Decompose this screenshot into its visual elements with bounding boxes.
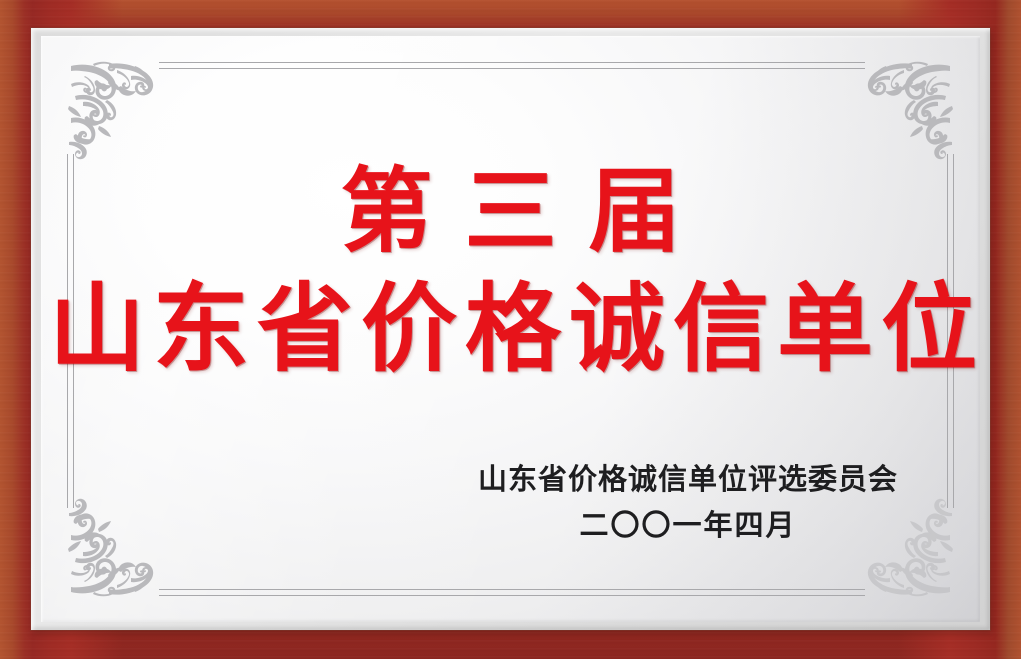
border-rule-bottom-outer xyxy=(159,595,865,596)
issue-date: 二〇〇一年四月 xyxy=(478,506,898,545)
border-rule-left-outer xyxy=(67,154,68,508)
issuing-organization: 山东省价格诚信单位评选委员会 xyxy=(478,460,898,499)
border-rule-right-outer xyxy=(953,154,954,508)
border-rule-left-inner xyxy=(73,154,74,508)
border-rule-top-outer xyxy=(159,62,865,63)
border-rule-right-inner xyxy=(947,154,948,508)
border-rule-top-inner xyxy=(159,68,865,69)
award-plaque: 第三届 山东省价格诚信单位 山东省价格诚信单位评选委员会 二〇〇一年四月 xyxy=(0,0,1021,659)
title-line-2: 山东省价格诚信单位 xyxy=(41,279,980,380)
corner-ornament-top-left-icon xyxy=(63,56,167,160)
corner-ornament-bottom-left-icon xyxy=(63,498,167,602)
plaque-title-block: 第三届 山东省价格诚信单位 xyxy=(41,164,980,379)
plaque-signature-block: 山东省价格诚信单位评选委员会 二〇〇一年四月 xyxy=(478,460,898,545)
border-rule-bottom-inner xyxy=(159,589,865,590)
metallic-sheen-overlay xyxy=(41,36,980,622)
corner-ornament-top-right-icon xyxy=(854,56,958,160)
plaque-face: 第三届 山东省价格诚信单位 山东省价格诚信单位评选委员会 二〇〇一年四月 xyxy=(41,36,980,622)
corner-ornament-bottom-right-icon xyxy=(854,498,958,602)
title-line-1: 第三届 xyxy=(41,164,980,261)
